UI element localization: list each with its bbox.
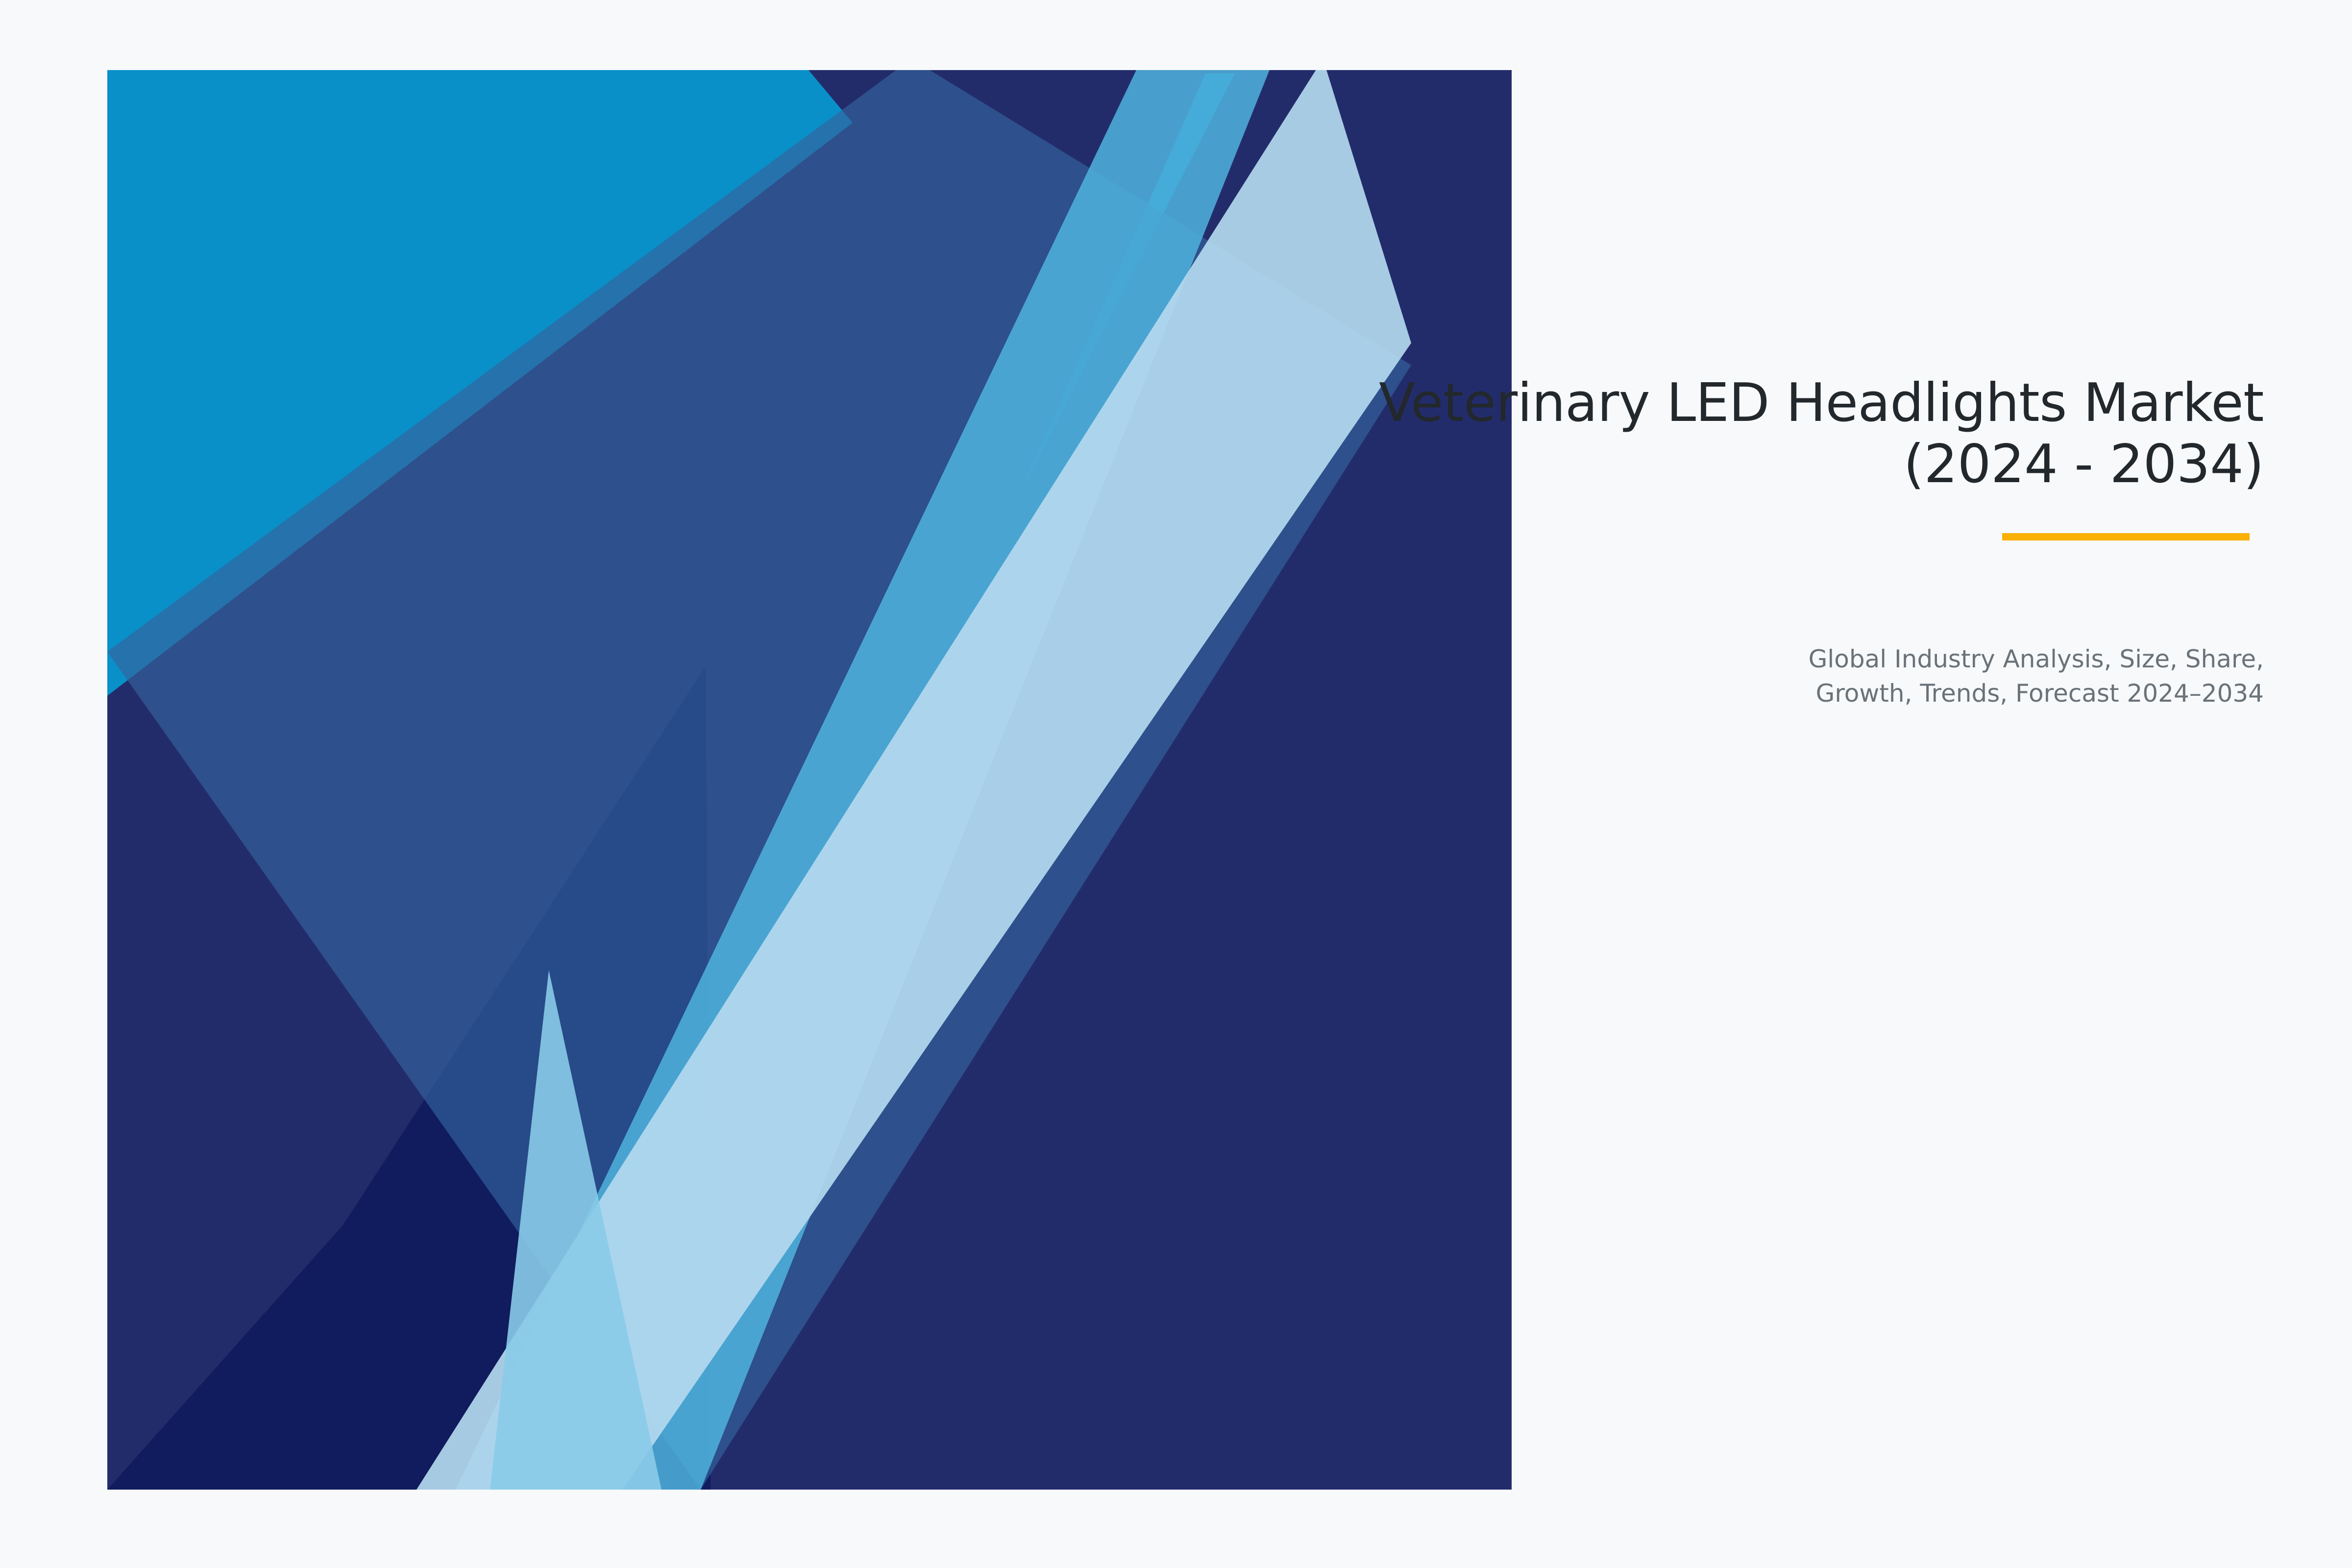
- title-line-primary: Veterinary LED Headlights Market: [980, 372, 2264, 434]
- shape-navy-dark-wedge: [107, 666, 710, 1490]
- subtitle-line-2: Growth, Trends, Forecast 2024–2034: [1470, 676, 2264, 710]
- shape-slate-parallelogram: [107, 59, 1411, 1490]
- subtitle-line-1: Global Industry Analysis, Size, Share,: [1470, 642, 2264, 676]
- abstract-polygon-graphic: [0, 0, 2352, 1568]
- amber-underline-rule: [2002, 533, 2250, 540]
- shape-sky-band: [456, 59, 1274, 1490]
- shape-sky-notch: [490, 970, 661, 1490]
- shape-pale-band: [416, 59, 1411, 1490]
- shape-navy-band: [107, 70, 1512, 1490]
- page-title: Veterinary LED Headlights Market (2024 -…: [980, 372, 2264, 495]
- title-line-period: (2024 - 2034): [980, 434, 2264, 495]
- page-subtitle: Global Industry Analysis, Size, Share, G…: [1470, 642, 2264, 710]
- shape-cyan-base: [107, 70, 1512, 1490]
- shape-navy-triangle-top: [808, 70, 1512, 603]
- report-cover: Veterinary LED Headlights Market (2024 -…: [0, 0, 2352, 1568]
